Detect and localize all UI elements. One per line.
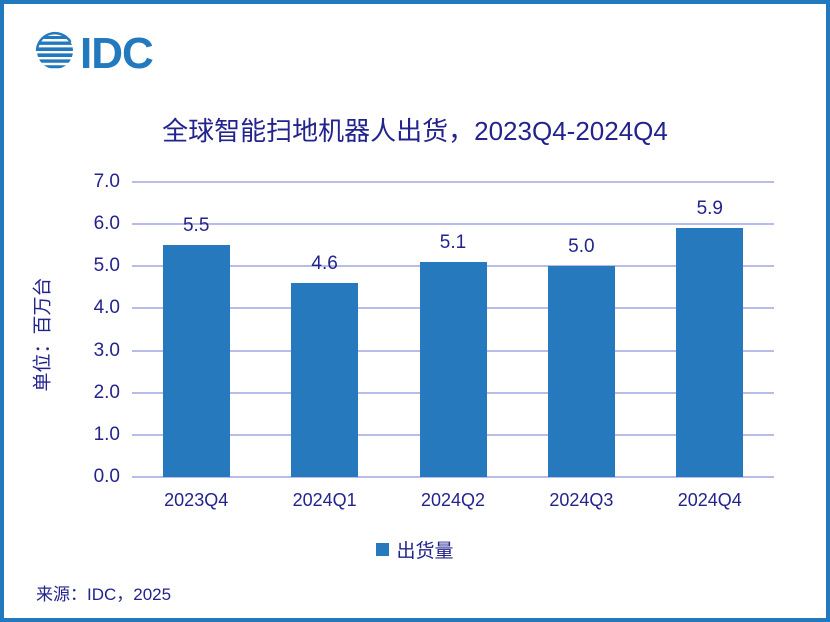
x-axis-tick-label: 2024Q3 — [549, 490, 613, 511]
source-note: 来源：IDC，2025 — [36, 580, 171, 605]
y-axis-tick-label: 3.0 — [94, 340, 120, 362]
y-axis-tick-label: 4.0 — [94, 297, 120, 319]
legend: 出货量 — [4, 536, 826, 563]
bar-value-label: 4.6 — [311, 253, 337, 275]
y-axis-tick-label: 0.0 — [94, 466, 120, 488]
y-axis-tick-label: 6.0 — [94, 213, 120, 235]
bar-value-label: 5.5 — [183, 215, 209, 237]
bar[interactable] — [676, 228, 743, 477]
bar[interactable] — [420, 262, 487, 477]
idc-logo: IDC — [34, 30, 153, 77]
legend-label: 出货量 — [396, 536, 453, 563]
x-axis-tick-label: 2024Q2 — [421, 490, 485, 511]
bar[interactable] — [163, 245, 230, 477]
legend-swatch-icon — [376, 543, 389, 556]
bar-value-label: 5.9 — [697, 198, 723, 220]
bar-value-label: 5.0 — [568, 236, 594, 258]
bar[interactable] — [548, 266, 615, 477]
y-axis-tick-label: 7.0 — [94, 171, 120, 193]
y-axis-title-text: 单位：百万台 — [28, 277, 55, 391]
x-axis-tick-label: 2024Q1 — [293, 490, 357, 511]
plot-area: 7.06.05.04.03.02.01.00.0 5.54.65.15.05.9… — [132, 182, 774, 477]
x-axis-tick-label: 2023Q4 — [164, 490, 228, 511]
idc-globe-icon — [34, 30, 76, 77]
bar-value-label: 5.1 — [440, 232, 466, 254]
x-axis-tick-label: 2024Q4 — [678, 490, 742, 511]
page-title: 全球智能扫地机器人出货，2023Q4-2024Q4 — [4, 111, 826, 148]
y-axis-tick-label: 5.0 — [94, 255, 120, 277]
bar[interactable] — [291, 283, 358, 477]
gridline — [132, 181, 774, 183]
y-axis-tick-label: 1.0 — [94, 424, 120, 446]
y-axis-tick-label: 2.0 — [94, 382, 120, 404]
chart-card: IDC 全球智能扫地机器人出货，2023Q4-2024Q4 单位：百万台 7.0… — [0, 0, 830, 622]
gridline — [132, 223, 774, 225]
idc-wordmark: IDC — [80, 32, 153, 76]
y-axis-title: 单位：百万台 — [26, 244, 56, 424]
